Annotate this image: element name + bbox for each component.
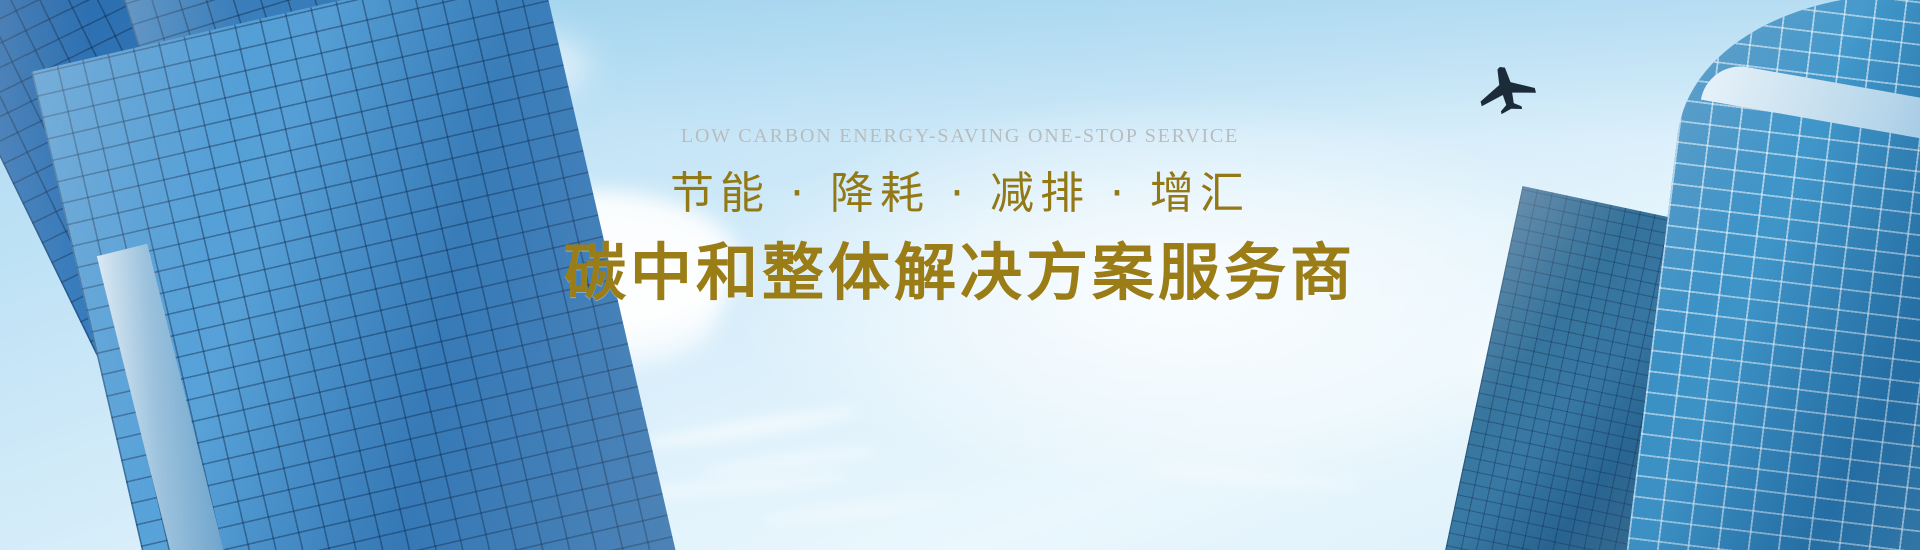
banner-copy: LOW CARBON ENERGY-SAVING ONE-STOP SERVIC…: [0, 126, 1920, 307]
banner-eyebrow: LOW CARBON ENERGY-SAVING ONE-STOP SERVIC…: [0, 126, 1920, 146]
cloud-wisp: [700, 444, 880, 478]
banner-headline: 碳中和整体解决方案服务商: [0, 240, 1920, 307]
cloud-wisp: [760, 495, 950, 527]
banner-subheadline: 节能 · 降耗 · 减排 · 增汇: [0, 172, 1920, 216]
cloud-wisp: [640, 403, 860, 453]
hero-banner: LOW CARBON ENERGY-SAVING ONE-STOP SERVIC…: [0, 0, 1920, 550]
airplane-icon: [1471, 55, 1544, 120]
cloud-wisp: [1150, 463, 1360, 492]
